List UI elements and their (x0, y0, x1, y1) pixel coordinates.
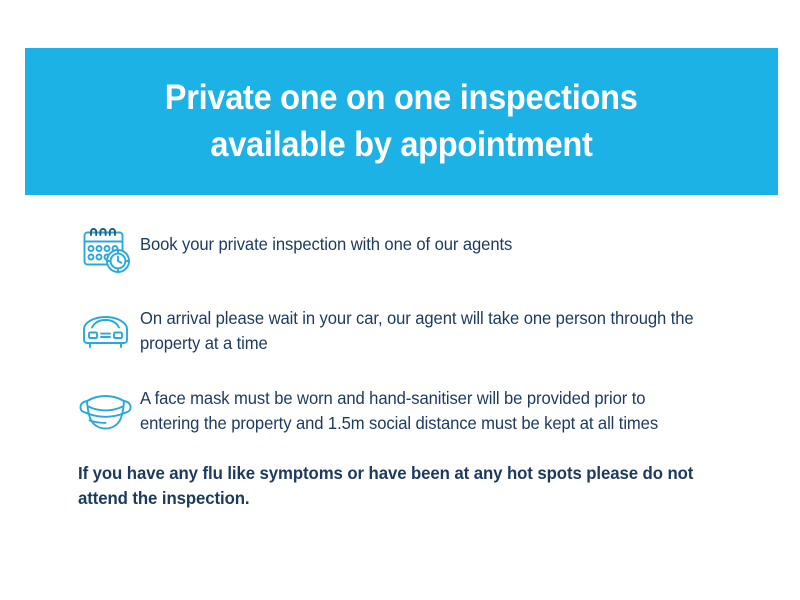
list-item: A face mask must be worn and hand-saniti… (78, 386, 738, 436)
list-item-text: On arrival please wait in your car, our … (140, 306, 708, 356)
list-item: On arrival please wait in your car, our … (78, 306, 738, 356)
instruction-list: Book your private inspection with one of… (78, 226, 738, 435)
face-mask-icon (78, 386, 140, 434)
list-item: Book your private inspection with one of… (78, 226, 738, 280)
inspection-notice-poster: Private one on one inspections available… (0, 0, 800, 600)
list-item-text: Book your private inspection with one of… (140, 226, 512, 257)
list-item-text: A face mask must be worn and hand-saniti… (140, 386, 708, 436)
calendar-clock-icon (78, 226, 140, 280)
banner: Private one on one inspections available… (25, 48, 778, 195)
banner-title-line-2: available by appointment (210, 122, 592, 169)
car-front-icon (78, 306, 140, 352)
footer-warning-text: If you have any flu like symptoms or hav… (78, 461, 719, 512)
banner-title-line-1: Private one on one inspections (165, 75, 638, 122)
